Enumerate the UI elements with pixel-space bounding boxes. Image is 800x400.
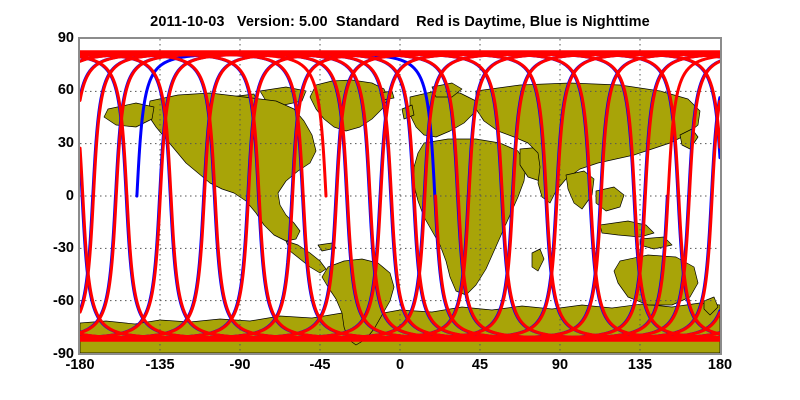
xtick-m135: -135 — [125, 358, 195, 373]
ground-track-figure: 2011-10-03 Version: 5.00 Standard Red is… — [0, 0, 800, 400]
xtick-m90: -90 — [205, 358, 275, 373]
ground-track-svg — [80, 39, 720, 353]
xtick-0: 0 — [365, 358, 435, 373]
ytick-m60: -60 — [14, 294, 74, 309]
xtick-m45: -45 — [285, 358, 355, 373]
ytick-0: 0 — [14, 189, 74, 204]
map-plot-area — [78, 37, 722, 355]
ytick-m30: -30 — [14, 241, 74, 256]
ytick-30: 30 — [14, 136, 74, 151]
xtick-90: 90 — [525, 358, 595, 373]
xtick-135: 135 — [605, 358, 675, 373]
ytick-60: 60 — [14, 83, 74, 98]
ytick-90: 90 — [14, 31, 74, 46]
xtick-45: 45 — [445, 358, 515, 373]
xtick-180: 180 — [685, 358, 755, 373]
xtick-m180: -180 — [45, 358, 115, 373]
figure-title: 2011-10-03 Version: 5.00 Standard Red is… — [0, 14, 800, 30]
